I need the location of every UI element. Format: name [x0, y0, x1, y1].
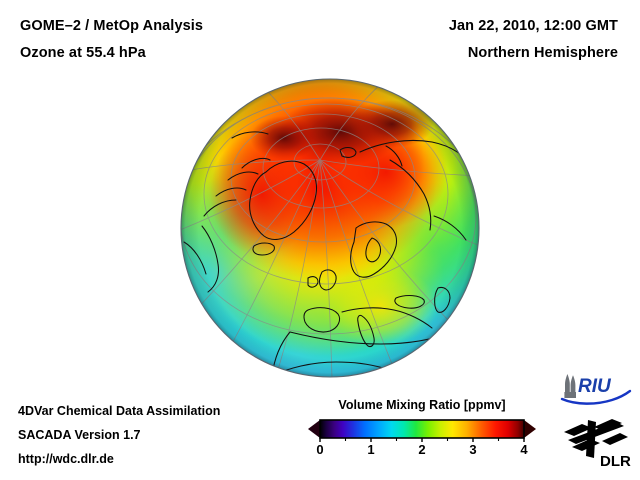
- dlr-logo-text: DLR: [600, 453, 631, 470]
- colorbar-scale: [306, 418, 538, 442]
- website-link[interactable]: http://wdc.dlr.de: [18, 452, 114, 466]
- cathedral-icon: [564, 374, 576, 398]
- colorbar-tick-2: 2: [418, 442, 425, 457]
- colorbar-right-cap: [524, 420, 536, 438]
- coastline-alaska: [476, 164, 484, 192]
- dlr-logo: DLR: [562, 414, 636, 472]
- colorbar-tick-4: 4: [520, 442, 527, 457]
- timestamp-label: Jan 22, 2010, 12:00 GMT: [449, 18, 618, 34]
- colorbar: Volume Mixing Ratio [ppmv]: [306, 398, 538, 468]
- colorbar-tick-0: 0: [316, 442, 323, 457]
- globe-map: [180, 76, 484, 380]
- colorbar-title: Volume Mixing Ratio [ppmv]: [306, 398, 538, 412]
- colorbar-tick-1: 1: [367, 442, 374, 457]
- method-label: 4DVar Chemical Data Assimilation: [18, 404, 220, 418]
- ozone-analysis-figure: GOME–2 / MetOp Analysis Ozone at 55.4 hP…: [0, 0, 640, 480]
- orthographic-projection: [180, 76, 484, 380]
- version-label: SACADA Version 1.7: [18, 428, 141, 442]
- coastline-south-limb: [210, 366, 244, 378]
- coastline-red-sea-east: [444, 328, 460, 370]
- limb-shading: [181, 79, 479, 377]
- colorbar-gradient: [320, 420, 524, 438]
- riu-logo: RIU: [558, 372, 634, 406]
- page-title: GOME–2 / MetOp Analysis: [20, 18, 203, 34]
- riu-logo-text: RIU: [578, 376, 612, 397]
- page-subtitle: Ozone at 55.4 hPa: [20, 45, 146, 61]
- colorbar-left-cap: [308, 420, 320, 438]
- colorbar-tick-3: 3: [469, 442, 476, 457]
- coastline-arabia: [460, 328, 484, 356]
- region-label: Northern Hemisphere: [468, 45, 618, 61]
